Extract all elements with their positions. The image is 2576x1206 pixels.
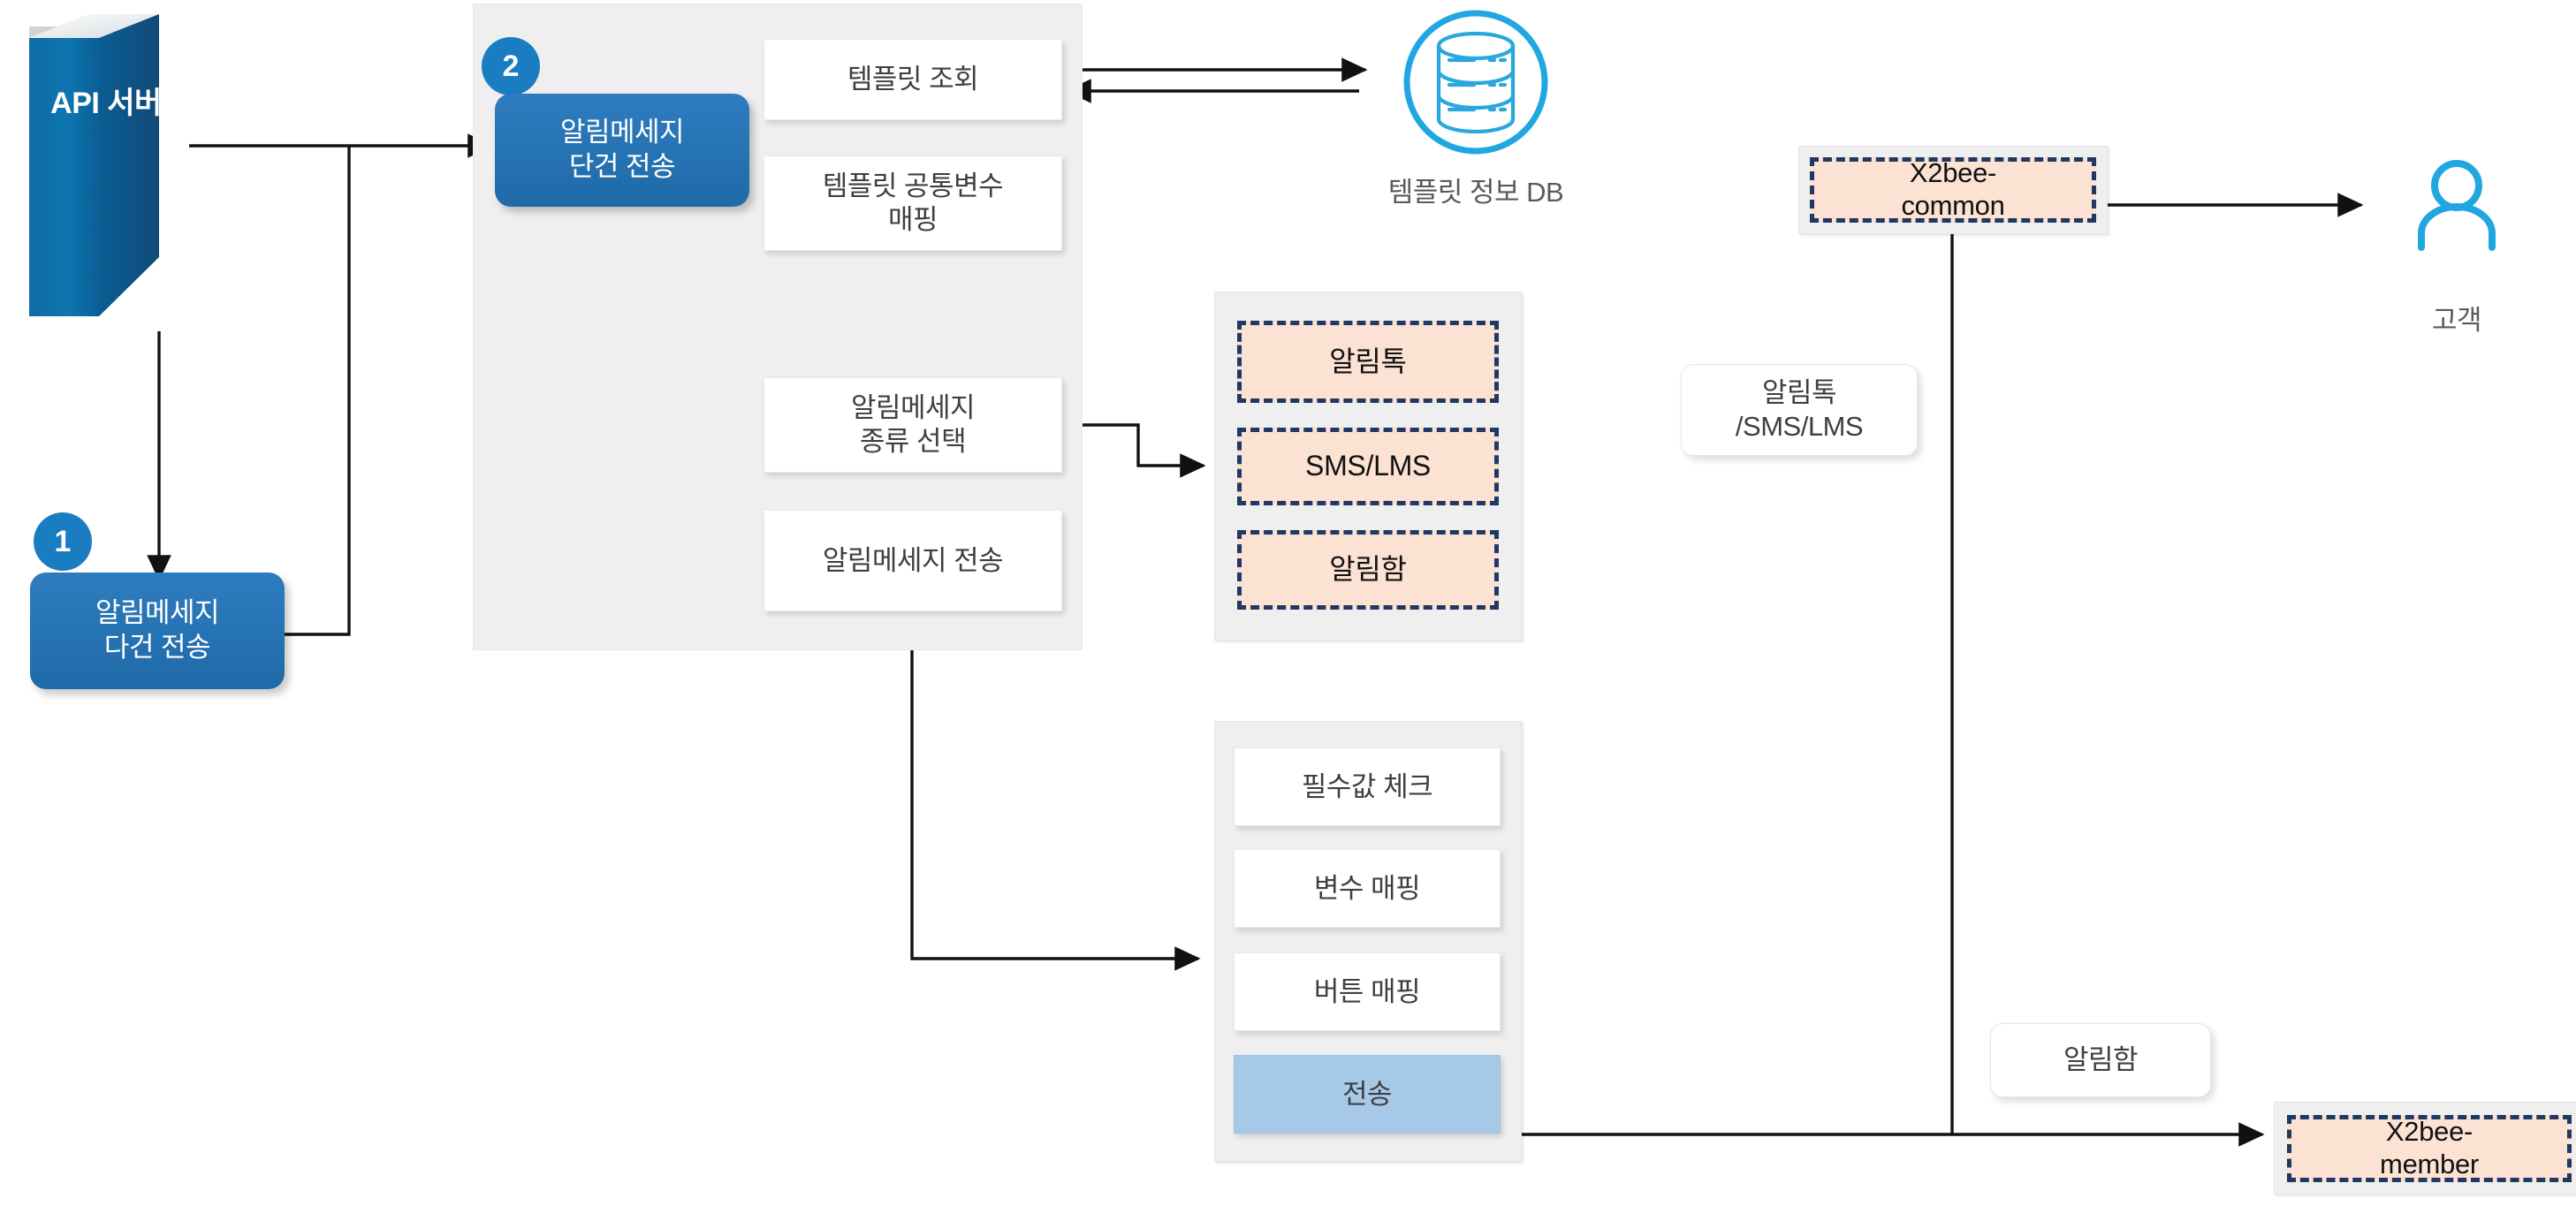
x2bee-member-line1: X2bee- bbox=[2386, 1116, 2473, 1149]
person-icon bbox=[2373, 124, 2541, 292]
step-1-number: 1 bbox=[55, 525, 72, 559]
channel-box-alimtalk[interactable]: 알림톡 bbox=[1237, 321, 1499, 403]
process-box-message-send-label: 알림메세지 전송 bbox=[823, 544, 1003, 578]
api-server: API 서버 bbox=[18, 7, 194, 334]
channel-box-notification[interactable]: 알림함 bbox=[1237, 530, 1499, 610]
x2bee-member-box[interactable]: X2bee- member bbox=[2287, 1115, 2572, 1182]
x2bee-common-box[interactable]: X2bee- common bbox=[1810, 157, 2096, 223]
step-2-badge: 2 bbox=[482, 37, 540, 95]
send-step-required-value-check-label: 필수값 체크 bbox=[1302, 770, 1432, 804]
channel-box-notification-label: 알림함 bbox=[1329, 553, 1406, 587]
send-step-send-label: 전송 bbox=[1342, 1078, 1392, 1111]
link-send-to-send-group bbox=[912, 611, 1198, 959]
callout-alimtalk-sms-lms-line2: /SMS/LMS bbox=[1736, 410, 1863, 444]
process-box-template-common-var-mapping-line2: 매핑 bbox=[888, 203, 938, 237]
step-2-box[interactable]: 알림메세지 단건 전송 bbox=[495, 94, 749, 207]
template-db: 템플릿 정보 DB bbox=[1365, 0, 1586, 221]
database-icon bbox=[1387, 4, 1564, 163]
process-box-template-common-var-mapping-line1: 템플릿 공통변수 bbox=[823, 170, 1003, 203]
link-type-select-to-channels bbox=[1062, 425, 1204, 466]
send-step-send[interactable]: 전송 bbox=[1234, 1055, 1501, 1134]
channel-box-sms-lms-label: SMS/LMS bbox=[1305, 450, 1431, 483]
process-box-template-common-var-mapping[interactable]: 템플릿 공통변수 매핑 bbox=[764, 155, 1062, 251]
step-2-label-line1: 알림메세지 bbox=[560, 116, 684, 150]
template-db-caption: 템플릿 정보 DB bbox=[1365, 169, 1586, 209]
step-2-number: 2 bbox=[503, 49, 520, 84]
process-box-message-send[interactable]: 알림메세지 전송 bbox=[764, 510, 1062, 611]
send-step-variable-mapping[interactable]: 변수 매핑 bbox=[1234, 849, 1501, 928]
send-step-required-value-check[interactable]: 필수값 체크 bbox=[1234, 747, 1501, 826]
x2bee-common-line1: X2bee- bbox=[1910, 157, 1996, 190]
step-1-box[interactable]: 알림메세지 다건 전송 bbox=[30, 573, 285, 689]
step-1-label-line2: 다건 전송 bbox=[104, 631, 210, 665]
api-server-shape bbox=[18, 7, 194, 334]
callout-notification-box-label: 알림함 bbox=[2063, 1043, 2138, 1077]
customer-caption: 고객 bbox=[2355, 297, 2558, 338]
link-step1-to-step2 bbox=[284, 146, 349, 634]
step-1-label-line1: 알림메세지 bbox=[95, 596, 219, 631]
process-box-message-type-select-line2: 종류 선택 bbox=[860, 425, 966, 459]
channel-box-sms-lms[interactable]: SMS/LMS bbox=[1237, 428, 1499, 505]
send-step-button-mapping-label: 버튼 매핑 bbox=[1314, 975, 1420, 1009]
callout-notification-box: 알림함 bbox=[1990, 1023, 2211, 1097]
step-2-label-line2: 단건 전송 bbox=[569, 150, 675, 185]
diagram-canvas: API 서버 1 알림메세지 다건 전송 2 알림메세지 단건 전송 템플릿 조… bbox=[0, 0, 2576, 1206]
x2bee-member-line2: member bbox=[2380, 1149, 2479, 1181]
send-step-variable-mapping-label: 변수 매핑 bbox=[1314, 872, 1420, 906]
callout-alimtalk-sms-lms-line1: 알림톡 bbox=[1762, 376, 1836, 410]
x2bee-common-line2: common bbox=[1901, 190, 2004, 223]
step-1-badge: 1 bbox=[34, 512, 92, 571]
process-box-message-type-select[interactable]: 알림메세지 종류 선택 bbox=[764, 377, 1062, 473]
process-box-message-type-select-line1: 알림메세지 bbox=[851, 391, 975, 425]
channel-box-alimtalk-label: 알림톡 bbox=[1329, 345, 1406, 379]
process-box-template-lookup[interactable]: 템플릿 조회 bbox=[764, 39, 1062, 120]
send-step-button-mapping[interactable]: 버튼 매핑 bbox=[1234, 952, 1501, 1031]
callout-alimtalk-sms-lms: 알림톡 /SMS/LMS bbox=[1681, 364, 1918, 456]
customer: 고객 bbox=[2355, 124, 2558, 345]
process-box-template-lookup-label: 템플릿 조회 bbox=[847, 63, 978, 96]
